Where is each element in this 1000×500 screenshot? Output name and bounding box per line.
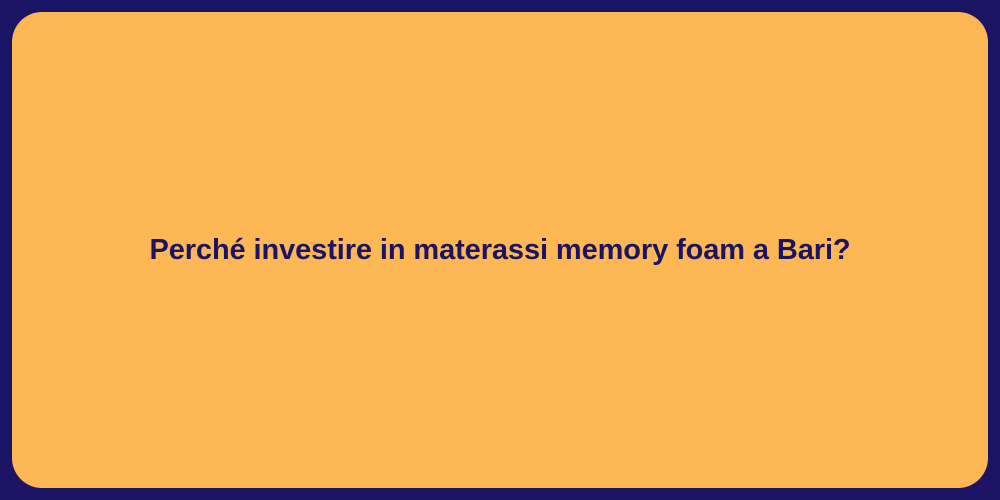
page-title: Perché investire in materassi memory foa… [109,232,890,268]
page-frame: Perché investire in materassi memory foa… [0,0,1000,500]
content-card: Perché investire in materassi memory foa… [12,12,988,488]
